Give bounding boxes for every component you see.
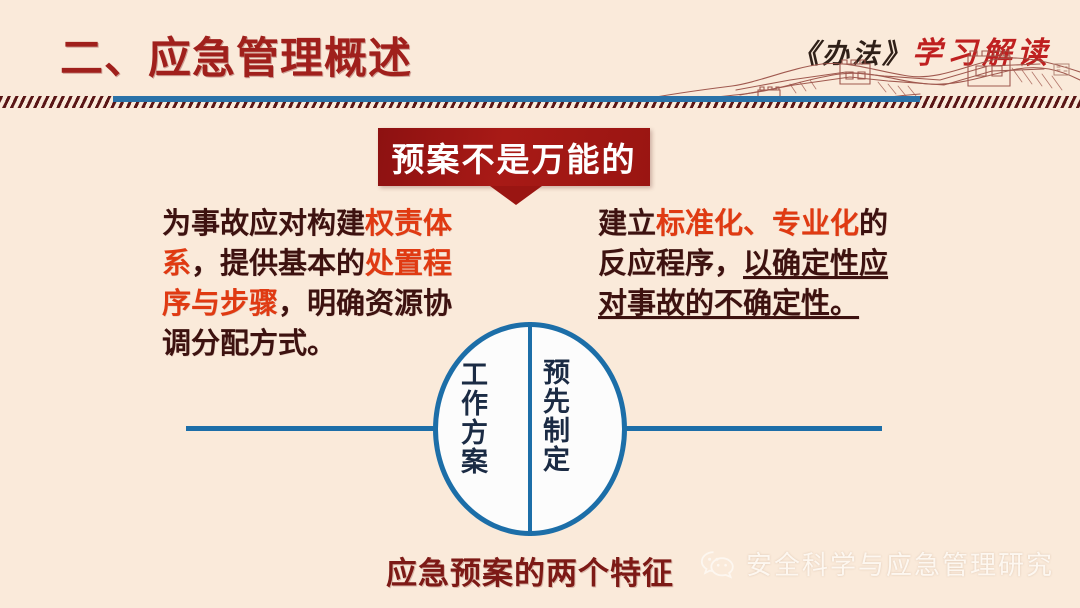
diagram-label-left: 工作方案 <box>458 360 485 476</box>
slide-header: 二、应急管理概述 《办法》学习解读 <box>0 0 1080 96</box>
diagram-line-right <box>620 426 882 431</box>
headline-banner-text: 预案不是万能的 <box>392 133 637 181</box>
right-text-block: 建立标准化、专业化的反应程序，以确定性应对事故的不确定性。 <box>598 203 898 323</box>
diagram-label-right: 预先制定 <box>540 358 567 474</box>
wechat-icon <box>700 549 736 579</box>
right-text-seg-0: 建立 <box>598 206 656 240</box>
left-text-seg-2: ，提供基本的 <box>191 246 365 280</box>
banner-notch <box>490 186 542 205</box>
left-text-seg-0: 为事故应对构建 <box>162 206 365 240</box>
page-title: 二、应急管理概述 <box>60 24 412 86</box>
left-text-block: 为事故应对构建权责体系，提供基本的处置程序与步骤，明确资源协调分配方式。 <box>162 203 462 363</box>
wechat-watermark-text: 安全科学与应急管理研究 <box>746 545 1054 582</box>
divider-blue-bar <box>113 96 920 102</box>
diagram-circle-divider <box>528 322 532 536</box>
right-text-seg-1: 标准化、专业化 <box>656 206 859 240</box>
diagram-line-left <box>186 426 442 431</box>
wechat-watermark: 安全科学与应急管理研究 <box>700 545 1054 582</box>
headline-banner: 预案不是万能的 <box>378 128 650 186</box>
diagram-caption-text: 应急预案的两个特征 <box>386 548 674 593</box>
slide-canvas: 二、应急管理概述 《办法》学习解读 <box>0 0 1080 608</box>
